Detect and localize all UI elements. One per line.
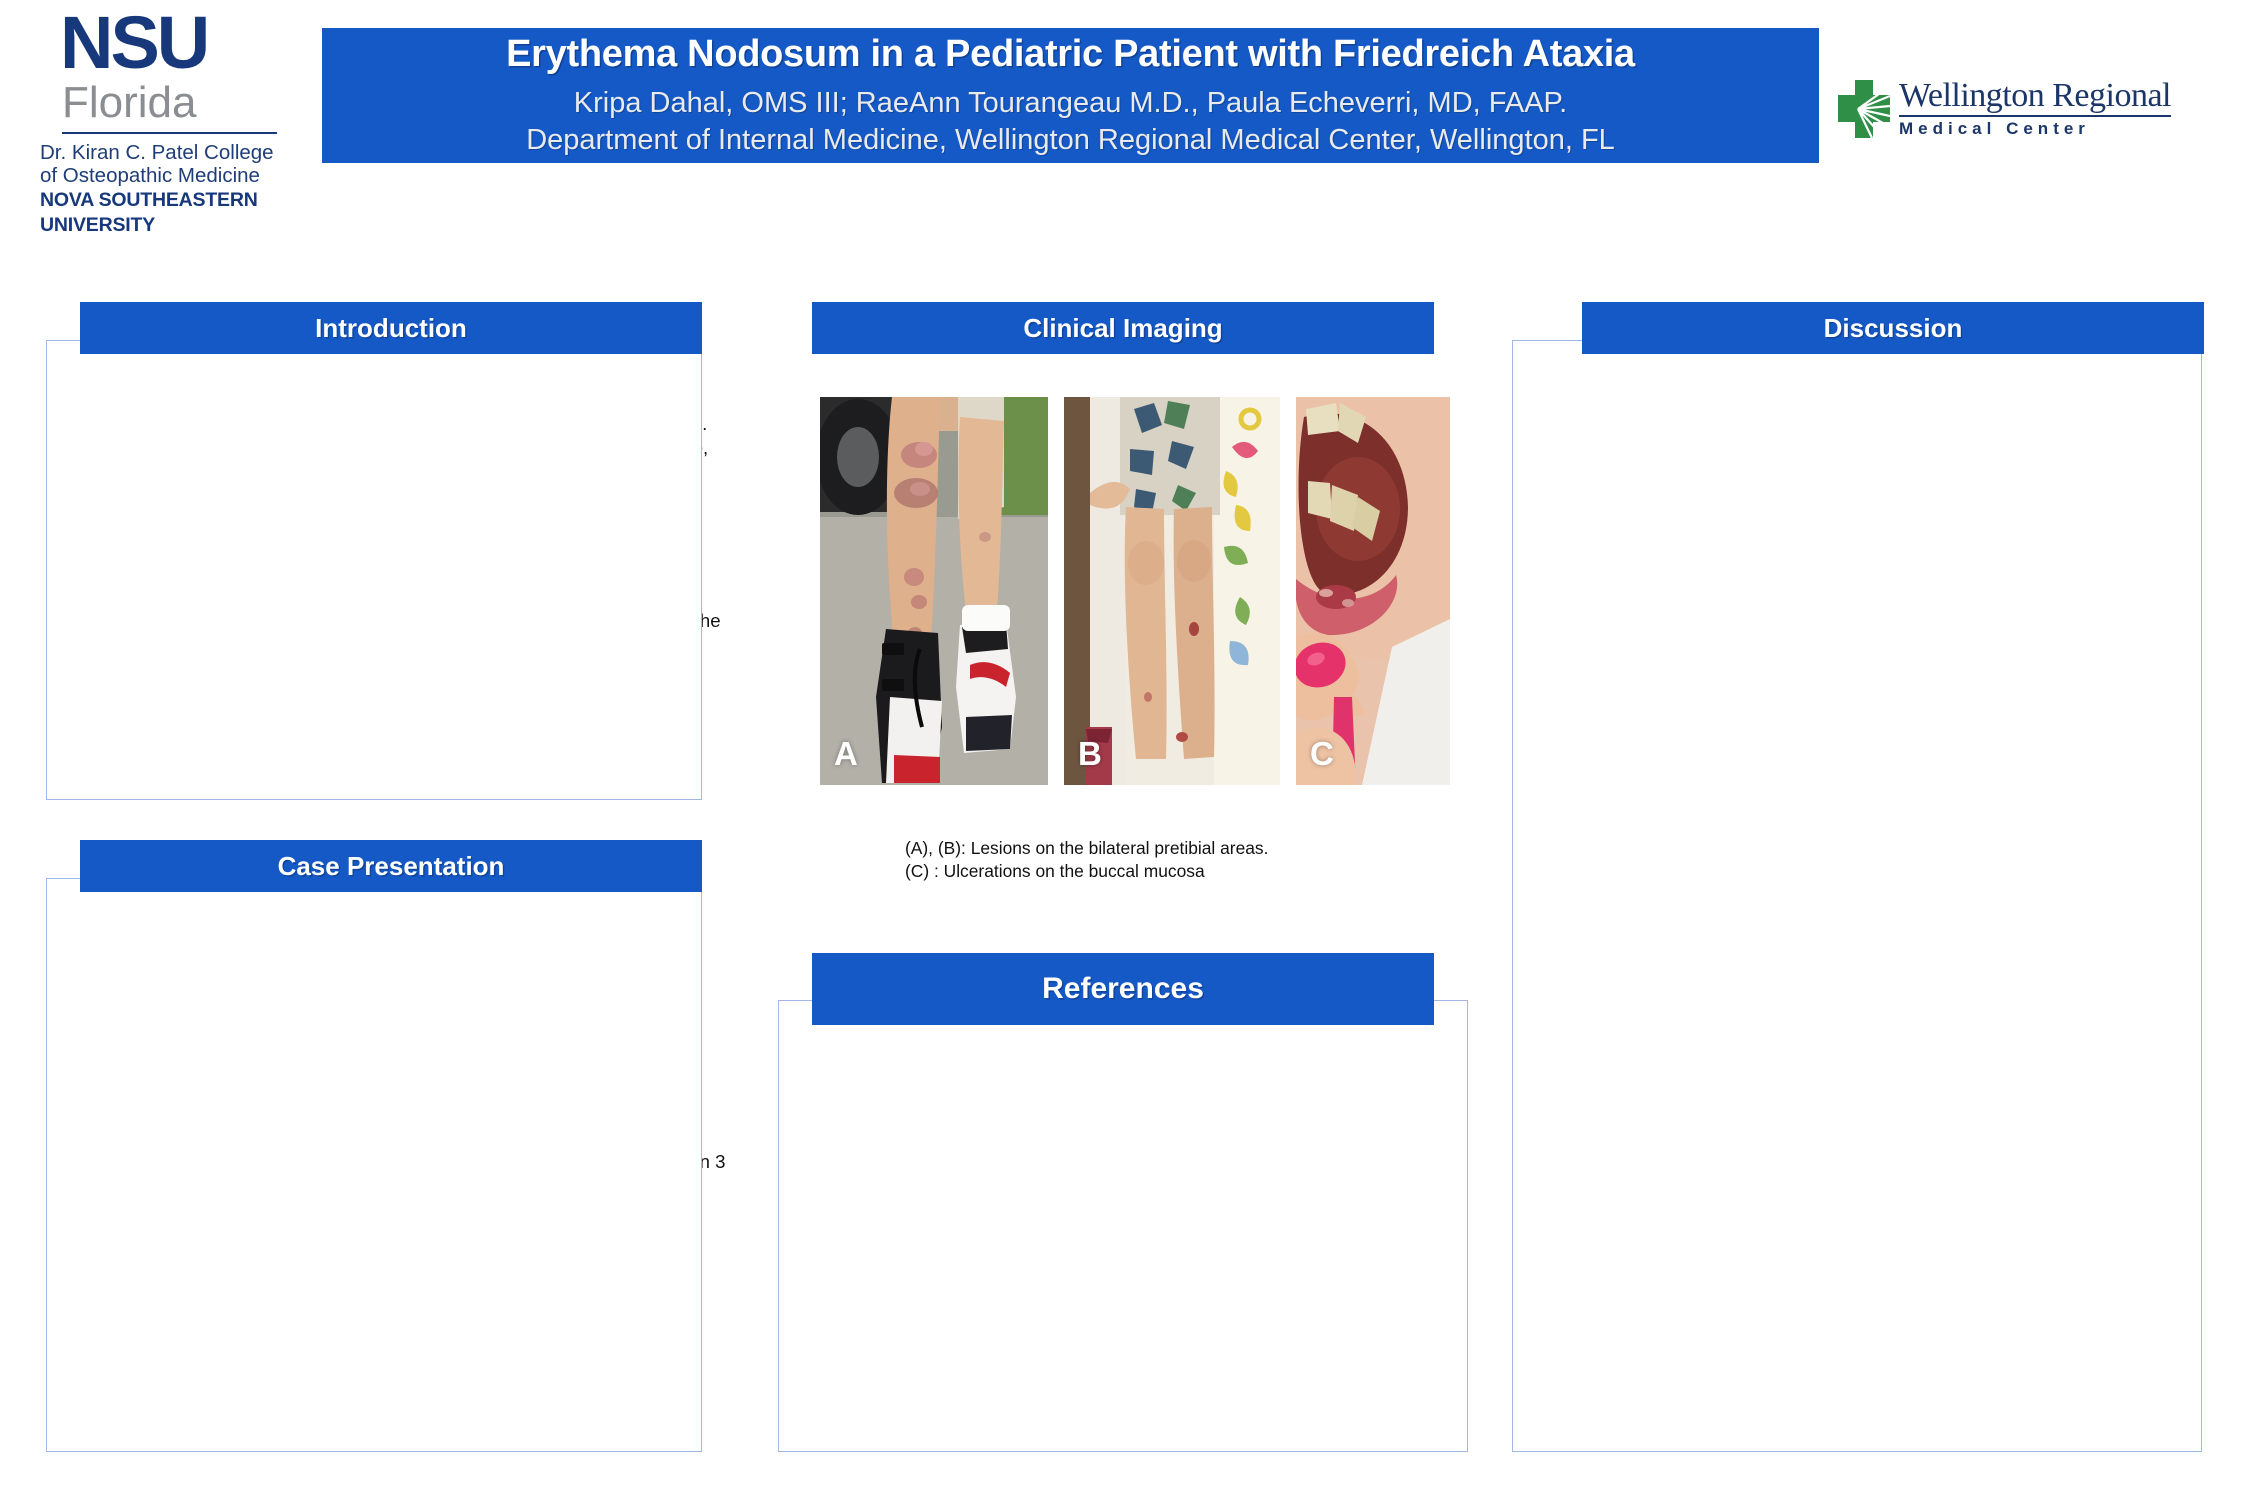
nsu-acronym: NSU <box>36 8 302 78</box>
nsu-university-line-1: NOVA SOUTHEASTERN <box>36 189 302 212</box>
clinical-photo-a: A <box>820 397 1048 785</box>
discussion-heading: Discussion <box>1582 302 2204 354</box>
affiliation: Department of Internal Medicine, Welling… <box>526 122 1615 159</box>
clinical-photo-b: B <box>1064 397 1280 785</box>
title-banner: Erythema Nodosum in a Pediatric Patient … <box>322 28 1819 163</box>
wrmc-wordmark: Wellington Regional Medical Center <box>1899 78 2171 139</box>
wrmc-line-1: Wellington Regional <box>1899 78 2171 114</box>
figure-label-a: A <box>834 735 858 773</box>
nsu-university-line-2: UNIVERSITY <box>36 214 302 237</box>
caption-line-2: (C) : Ulcerations on the buccal mucosa <box>905 860 1505 883</box>
page-title: Erythema Nodosum in a Pediatric Patient … <box>506 33 1635 76</box>
caption-line-1: (A), (B): Lesions on the bilateral preti… <box>905 837 1505 860</box>
clinical-imaging-heading: Clinical Imaging <box>812 302 1434 354</box>
introduction-heading: Introduction <box>80 302 702 354</box>
nsu-college-line-1: Dr. Kiran C. Patel College <box>36 141 302 164</box>
figure-label-c: C <box>1310 735 1334 773</box>
poster-header: NSU Florida Dr. Kiran C. Patel College o… <box>0 0 2249 252</box>
green-cross-icon <box>1838 80 1890 138</box>
wellington-regional-logo: Wellington Regional Medical Center <box>1838 78 2218 158</box>
figure-label-b: B <box>1078 735 1102 773</box>
wrmc-divider <box>1899 115 2171 117</box>
case-presentation-heading: Case Presentation <box>80 840 702 892</box>
case-presentation-panel <box>46 878 702 1452</box>
introduction-panel <box>46 340 702 800</box>
nsu-college-line-2: of Osteopathic Medicine <box>36 164 302 187</box>
references-panel <box>778 1000 1468 1452</box>
wrmc-line-2: Medical Center <box>1899 119 2171 139</box>
nsu-state: Florida <box>36 80 302 126</box>
discussion-panel <box>1512 340 2202 1452</box>
clinical-imaging-figure-group: A <box>820 397 1450 787</box>
nsu-logo: NSU Florida Dr. Kiran C. Patel College o… <box>36 8 302 240</box>
clinical-imaging-caption: (A), (B): Lesions on the bilateral preti… <box>905 837 1505 882</box>
nsu-divider <box>62 132 277 134</box>
references-heading: References <box>812 953 1434 1025</box>
author-list: Kripa Dahal, OMS III; RaeAnn Tourangeau … <box>574 85 1567 122</box>
clinical-photo-c: C <box>1296 397 1450 785</box>
